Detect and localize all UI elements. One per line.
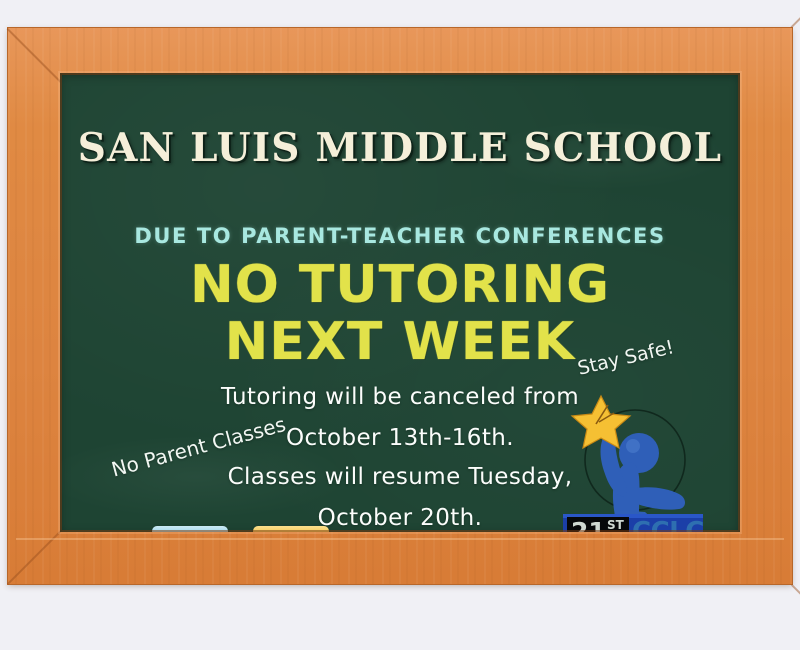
cclc-logo: 21 ST CCLC [553, 388, 713, 532]
logo-figure-extended-arm [637, 487, 685, 509]
headline-line-1: NO TUTORING [60, 259, 740, 312]
chalk-stick-yellow [253, 526, 329, 532]
chalk-stick-blue [152, 526, 228, 532]
frame-miter-seam-top-right [791, 0, 800, 28]
chalkboard-poster: SAN LUIS MIDDLE SCHOOL DUE TO PARENT-TEA… [8, 28, 792, 584]
frame-miter-seam-bottom-right [791, 584, 800, 650]
logo-number-text: 21 [571, 517, 606, 532]
logo-head-highlight [626, 439, 640, 453]
logo-ordinal-text: ST [607, 518, 625, 532]
poster-subtitle: DUE TO PARENT-TEACHER CONFERENCES [60, 224, 740, 248]
logo-star [572, 396, 630, 448]
logo-acronym-text: CCLC [632, 517, 704, 532]
page-title: SAN LUIS MIDDLE SCHOOL [60, 125, 740, 171]
chalkboard-surface: SAN LUIS MIDDLE SCHOOL DUE TO PARENT-TEA… [60, 73, 740, 532]
